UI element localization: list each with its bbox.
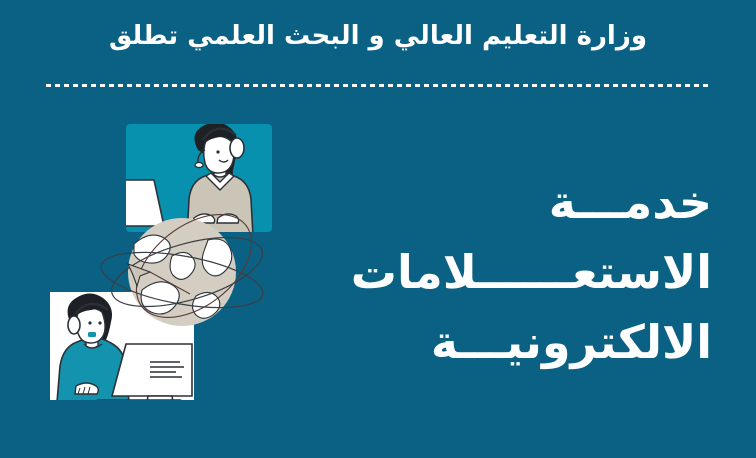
eye-2 <box>88 321 91 324</box>
headset-mic-2 <box>88 332 96 337</box>
eye-3 <box>98 321 101 324</box>
continent-5 <box>193 292 220 318</box>
continent-1 <box>134 235 170 263</box>
banner-root: وزارة التعليم العالي و البحث العلمي تطلق… <box>0 0 756 458</box>
monitor-stand <box>62 226 100 240</box>
monitor-screen-2 <box>112 344 192 396</box>
header-dashed-divider <box>46 84 710 87</box>
eye <box>216 150 219 153</box>
headline-line-2: الاستعــــــلامات <box>332 238 712 308</box>
keyboard-2 <box>96 400 182 406</box>
page-title: وزارة التعليم العالي و البحث العلمي تطلق <box>0 22 756 52</box>
monitor-screen <box>34 180 164 226</box>
headset-mic <box>195 162 203 167</box>
headline-line-1: خدمـــة <box>332 168 712 238</box>
face-2 <box>77 308 106 343</box>
monitor-text-lines <box>68 196 108 211</box>
headline-block: خدمـــة الاستعــــــلامات الالكترونيـــة <box>332 168 712 378</box>
top-agent-scene <box>34 122 272 244</box>
illustration-svg <box>22 104 352 434</box>
illustration-artwork <box>22 104 352 434</box>
face <box>204 136 234 173</box>
monitor-stand-2 <box>146 396 174 408</box>
headset-earcup <box>230 138 244 158</box>
headset-earcup-2 <box>68 316 80 334</box>
headline-line-3: الالكترونيـــة <box>332 308 712 378</box>
